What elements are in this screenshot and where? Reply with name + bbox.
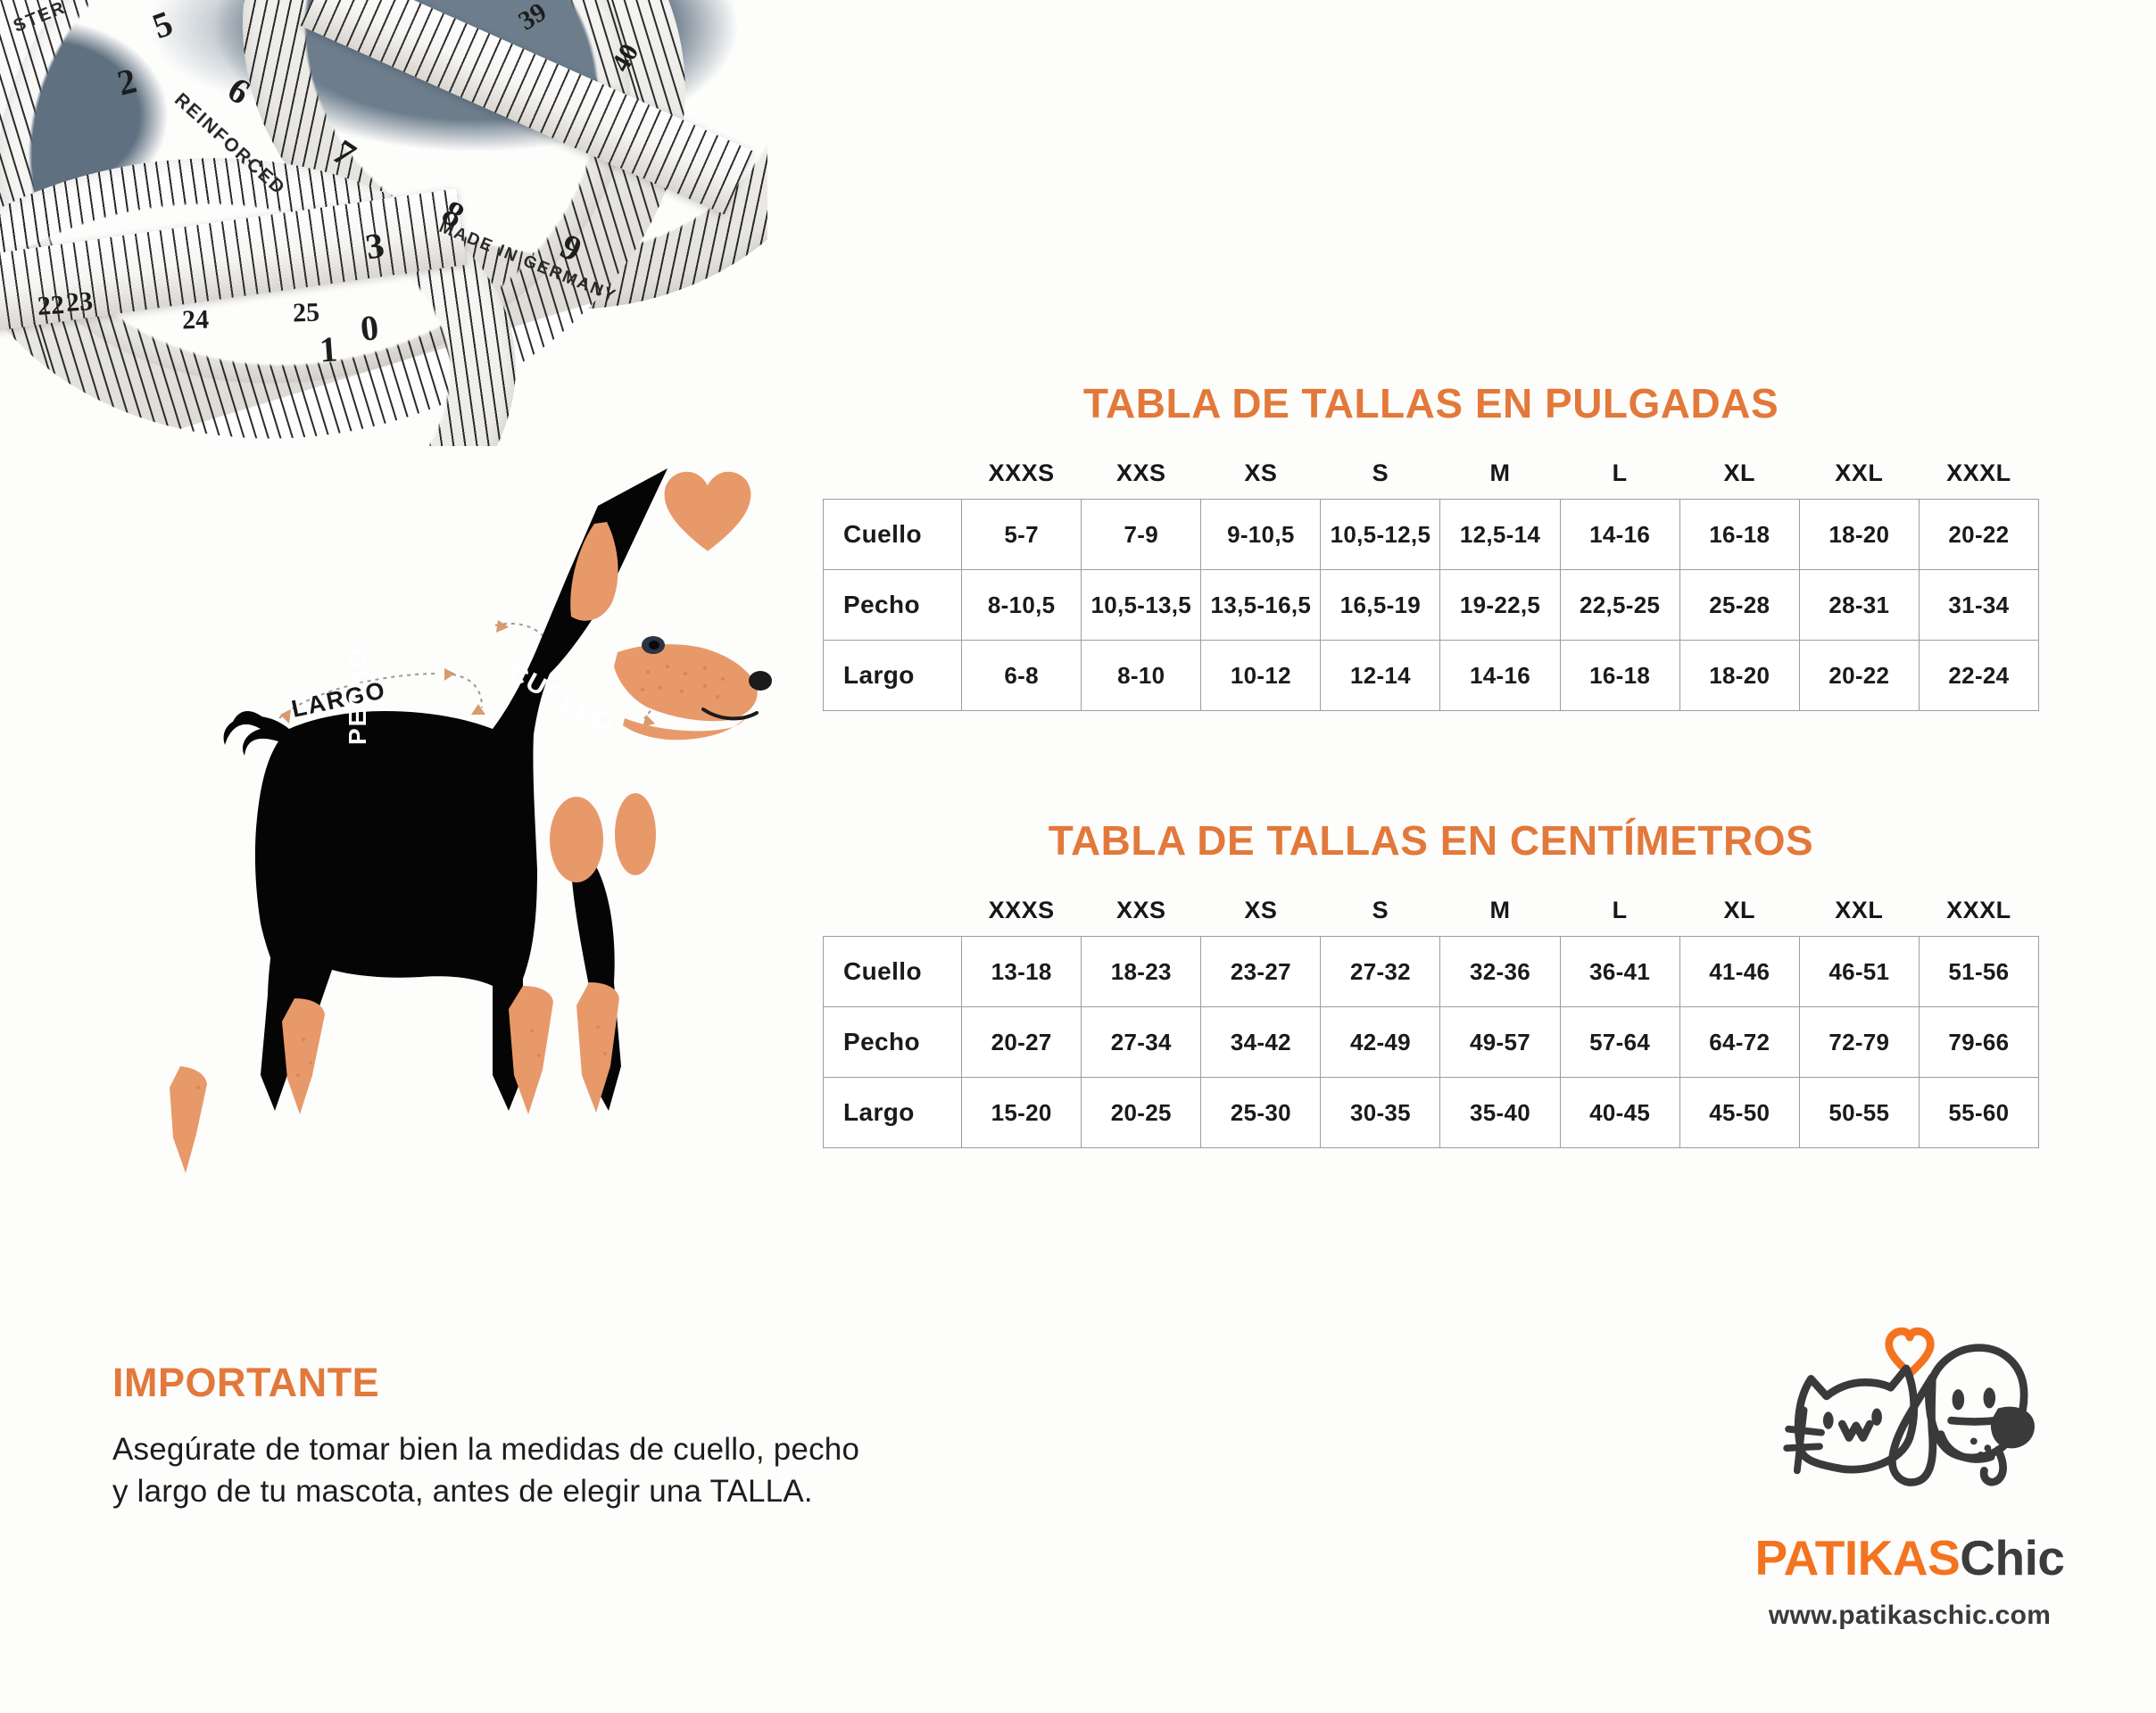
centimeters-pecho-xxs: 27-34 — [1082, 1007, 1201, 1078]
centimeters-pecho-xl: 64-72 — [1679, 1007, 1799, 1078]
inches-largo-xxl: 20-22 — [1799, 641, 1919, 711]
centimeters-row-label-pecho: Pecho — [824, 1007, 962, 1078]
brand-word-patikas: PATIKAS — [1755, 1530, 1961, 1585]
centimeters-cuello-xl: 41-46 — [1679, 937, 1799, 1007]
inches-header-m: M — [1440, 459, 1560, 500]
size-chart-infographic: REINFORCED MADE IN GERMANY STER 2 3 5 6 … — [0, 0, 2156, 1713]
cat-mouth — [1842, 1424, 1870, 1438]
cat-dog-logo-icon — [1762, 1320, 2057, 1526]
inches-header-xs: XS — [1201, 459, 1321, 500]
centimeters-largo-xxl: 50-55 — [1799, 1078, 1919, 1148]
important-line-2: y largo de tu mascota, antes de elegir u… — [112, 1471, 1094, 1513]
centimeters-table-section: TABLA DE TALLAS EN CENTÍMETROS XXXS XXS … — [823, 816, 2039, 1148]
inches-cuello-s: 10,5-12,5 — [1321, 500, 1440, 570]
important-note: IMPORTANTE Asegúrate de tomar bien la me… — [112, 1360, 1094, 1512]
tape-number-24: 24 — [181, 304, 209, 335]
inches-row-label-pecho: Pecho — [824, 570, 962, 641]
inches-pecho-xs: 13,5-16,5 — [1201, 570, 1321, 641]
inches-header-xxxs: XXXS — [962, 459, 1082, 500]
inches-size-header-row: XXXS XXS XS S M L XL XXL XXXL — [824, 459, 2039, 500]
centimeters-largo-xxs: 20-25 — [1082, 1078, 1201, 1148]
centimeters-header-corner — [824, 897, 962, 937]
table-row: Largo 6-8 8-10 10-12 12-14 14-16 16-18 1… — [824, 641, 2039, 711]
inches-largo-l: 16-18 — [1560, 641, 1679, 711]
centimeters-largo-xxxs: 15-20 — [962, 1078, 1082, 1148]
tape-number-1: 1 — [318, 327, 338, 370]
measuring-tape-photo: REINFORCED MADE IN GERMANY STER 2 3 5 6 … — [0, 0, 767, 446]
tape-number-23: 23 — [65, 286, 94, 319]
inches-cuello-m: 12,5-14 — [1440, 500, 1560, 570]
inches-header-s: S — [1321, 459, 1440, 500]
centimeters-header-xs: XS — [1201, 897, 1321, 937]
centimeters-largo-xl: 45-50 — [1679, 1078, 1799, 1148]
dog-label-pecho: PECHO — [344, 647, 372, 745]
inches-largo-s: 12-14 — [1321, 641, 1440, 711]
centimeters-row-label-cuello: Cuello — [824, 937, 962, 1007]
brand-wordmark: PATIKASChic — [1722, 1529, 2097, 1586]
inches-header-corner — [824, 459, 962, 500]
inches-largo-m: 14-16 — [1440, 641, 1560, 711]
inches-pecho-s: 16,5-19 — [1321, 570, 1440, 641]
centimeters-cuello-m: 32-36 — [1440, 937, 1560, 1007]
inches-row-label-largo: Largo — [824, 641, 962, 711]
centimeters-header-xxxs: XXXS — [962, 897, 1082, 937]
table-row: Pecho 8-10,5 10,5-13,5 13,5-16,5 16,5-19… — [824, 570, 2039, 641]
inches-pecho-xxl: 28-31 — [1799, 570, 1919, 641]
heart-icon — [659, 464, 757, 564]
centimeters-largo-m: 35-40 — [1440, 1078, 1560, 1148]
centimeters-pecho-s: 42-49 — [1321, 1007, 1440, 1078]
table-row: Cuello 13-18 18-23 23-27 27-32 32-36 36-… — [824, 937, 2039, 1007]
inches-largo-xxxs: 6-8 — [962, 641, 1082, 711]
centimeters-row-label-largo: Largo — [824, 1078, 962, 1148]
centimeters-size-table: XXXS XXS XS S M L XL XXL XXXL Cuello 13-… — [823, 897, 2039, 1148]
inches-size-table: XXXS XXS XS S M L XL XXL XXXL Cuello 5-7… — [823, 459, 2039, 711]
inches-cuello-xxl: 18-20 — [1799, 500, 1919, 570]
centimeters-size-header-row: XXXS XXS XS S M L XL XXL XXXL — [824, 897, 2039, 937]
centimeters-pecho-xs: 34-42 — [1201, 1007, 1321, 1078]
centimeters-cuello-xxxl: 51-56 — [1919, 937, 2038, 1007]
centimeters-header-xxxl: XXXL — [1919, 897, 2038, 937]
centimeters-header-xxs: XXS — [1082, 897, 1201, 937]
inches-largo-xxs: 8-10 — [1082, 641, 1201, 711]
inches-largo-xl: 18-20 — [1679, 641, 1799, 711]
cat-left-eye — [1823, 1411, 1834, 1428]
inches-pecho-xxxl: 31-34 — [1919, 570, 2038, 641]
centimeters-header-xl: XL — [1679, 897, 1799, 937]
inches-row-label-cuello: Cuello — [824, 500, 962, 570]
tape-number-22: 22 — [37, 290, 65, 322]
table-row: Pecho 20-27 27-34 34-42 42-49 49-57 57-6… — [824, 1007, 2039, 1078]
brand-word-chic: Chic — [1960, 1530, 2064, 1585]
centimeters-cuello-s: 27-32 — [1321, 937, 1440, 1007]
doberman-svg — [89, 451, 821, 1254]
inches-cuello-l: 14-16 — [1560, 500, 1679, 570]
inches-header-xxl: XXL — [1799, 459, 1919, 500]
centimeters-table-title: TABLA DE TALLAS EN CENTÍMETROS — [823, 816, 2039, 865]
centimeters-cuello-xxxs: 13-18 — [962, 937, 1082, 1007]
centimeters-header-m: M — [1440, 897, 1560, 937]
inches-pecho-l: 22,5-25 — [1560, 570, 1679, 641]
inches-header-xl: XL — [1679, 459, 1799, 500]
inches-largo-xs: 10-12 — [1201, 641, 1321, 711]
dog-nose-patch — [1991, 1407, 2035, 1449]
inches-pecho-xl: 25-28 — [1679, 570, 1799, 641]
brand-logo: PATIKASChic www.patikaschic.com — [1722, 1320, 2097, 1631]
important-line-1: Asegúrate de tomar bien la medidas de cu… — [112, 1429, 1094, 1471]
inches-table-section: TABLA DE TALLAS EN PULGADAS XXXS XXS XS … — [823, 379, 2039, 711]
inches-pecho-xxxs: 8-10,5 — [962, 570, 1082, 641]
dog-left-eye — [1953, 1389, 1965, 1410]
table-row: Largo 15-20 20-25 25-30 30-35 35-40 40-4… — [824, 1078, 2039, 1148]
inches-pecho-xxs: 10,5-13,5 — [1082, 570, 1201, 641]
inches-cuello-xs: 9-10,5 — [1201, 500, 1321, 570]
inches-header-xxs: XXS — [1082, 459, 1201, 500]
centimeters-largo-xxxl: 55-60 — [1919, 1078, 2038, 1148]
inches-cuello-xxs: 7-9 — [1082, 500, 1201, 570]
centimeters-largo-xs: 25-30 — [1201, 1078, 1321, 1148]
centimeters-header-xxl: XXL — [1799, 897, 1919, 937]
centimeters-pecho-xxxs: 20-27 — [962, 1007, 1082, 1078]
inches-pecho-m: 19-22,5 — [1440, 570, 1560, 641]
centimeters-cuello-l: 36-41 — [1560, 937, 1679, 1007]
centimeters-pecho-m: 49-57 — [1440, 1007, 1560, 1078]
centimeters-largo-s: 30-35 — [1321, 1078, 1440, 1148]
inches-cuello-xxxs: 5-7 — [962, 500, 1082, 570]
centimeters-pecho-xxxl: 79-66 — [1919, 1007, 2038, 1078]
inches-header-l: L — [1560, 459, 1679, 500]
dog-right-eye — [1984, 1387, 1996, 1408]
inches-table-title: TABLA DE TALLAS EN PULGADAS — [823, 379, 2039, 427]
inches-cuello-xl: 16-18 — [1679, 500, 1799, 570]
doberman-illustration: LARGO CUELLO PECHO — [89, 451, 821, 1254]
centimeters-cuello-xxs: 18-23 — [1082, 937, 1201, 1007]
tape-number-25: 25 — [292, 297, 319, 328]
centimeters-cuello-xxl: 46-51 — [1799, 937, 1919, 1007]
table-row: Cuello 5-7 7-9 9-10,5 10,5-12,5 12,5-14 … — [824, 500, 2039, 570]
centimeters-pecho-l: 57-64 — [1560, 1007, 1679, 1078]
inches-cuello-xxxl: 20-22 — [1919, 500, 2038, 570]
inches-header-xxxl: XXXL — [1919, 459, 2038, 500]
important-title: IMPORTANTE — [112, 1360, 1094, 1406]
centimeters-largo-l: 40-45 — [1560, 1078, 1679, 1148]
inches-largo-xxxl: 22-24 — [1919, 641, 2038, 711]
centimeters-header-s: S — [1321, 897, 1440, 937]
centimeters-pecho-xxl: 72-79 — [1799, 1007, 1919, 1078]
centimeters-cuello-xs: 23-27 — [1201, 937, 1321, 1007]
brand-website-url: www.patikaschic.com — [1722, 1601, 2097, 1631]
centimeters-header-l: L — [1560, 897, 1679, 937]
